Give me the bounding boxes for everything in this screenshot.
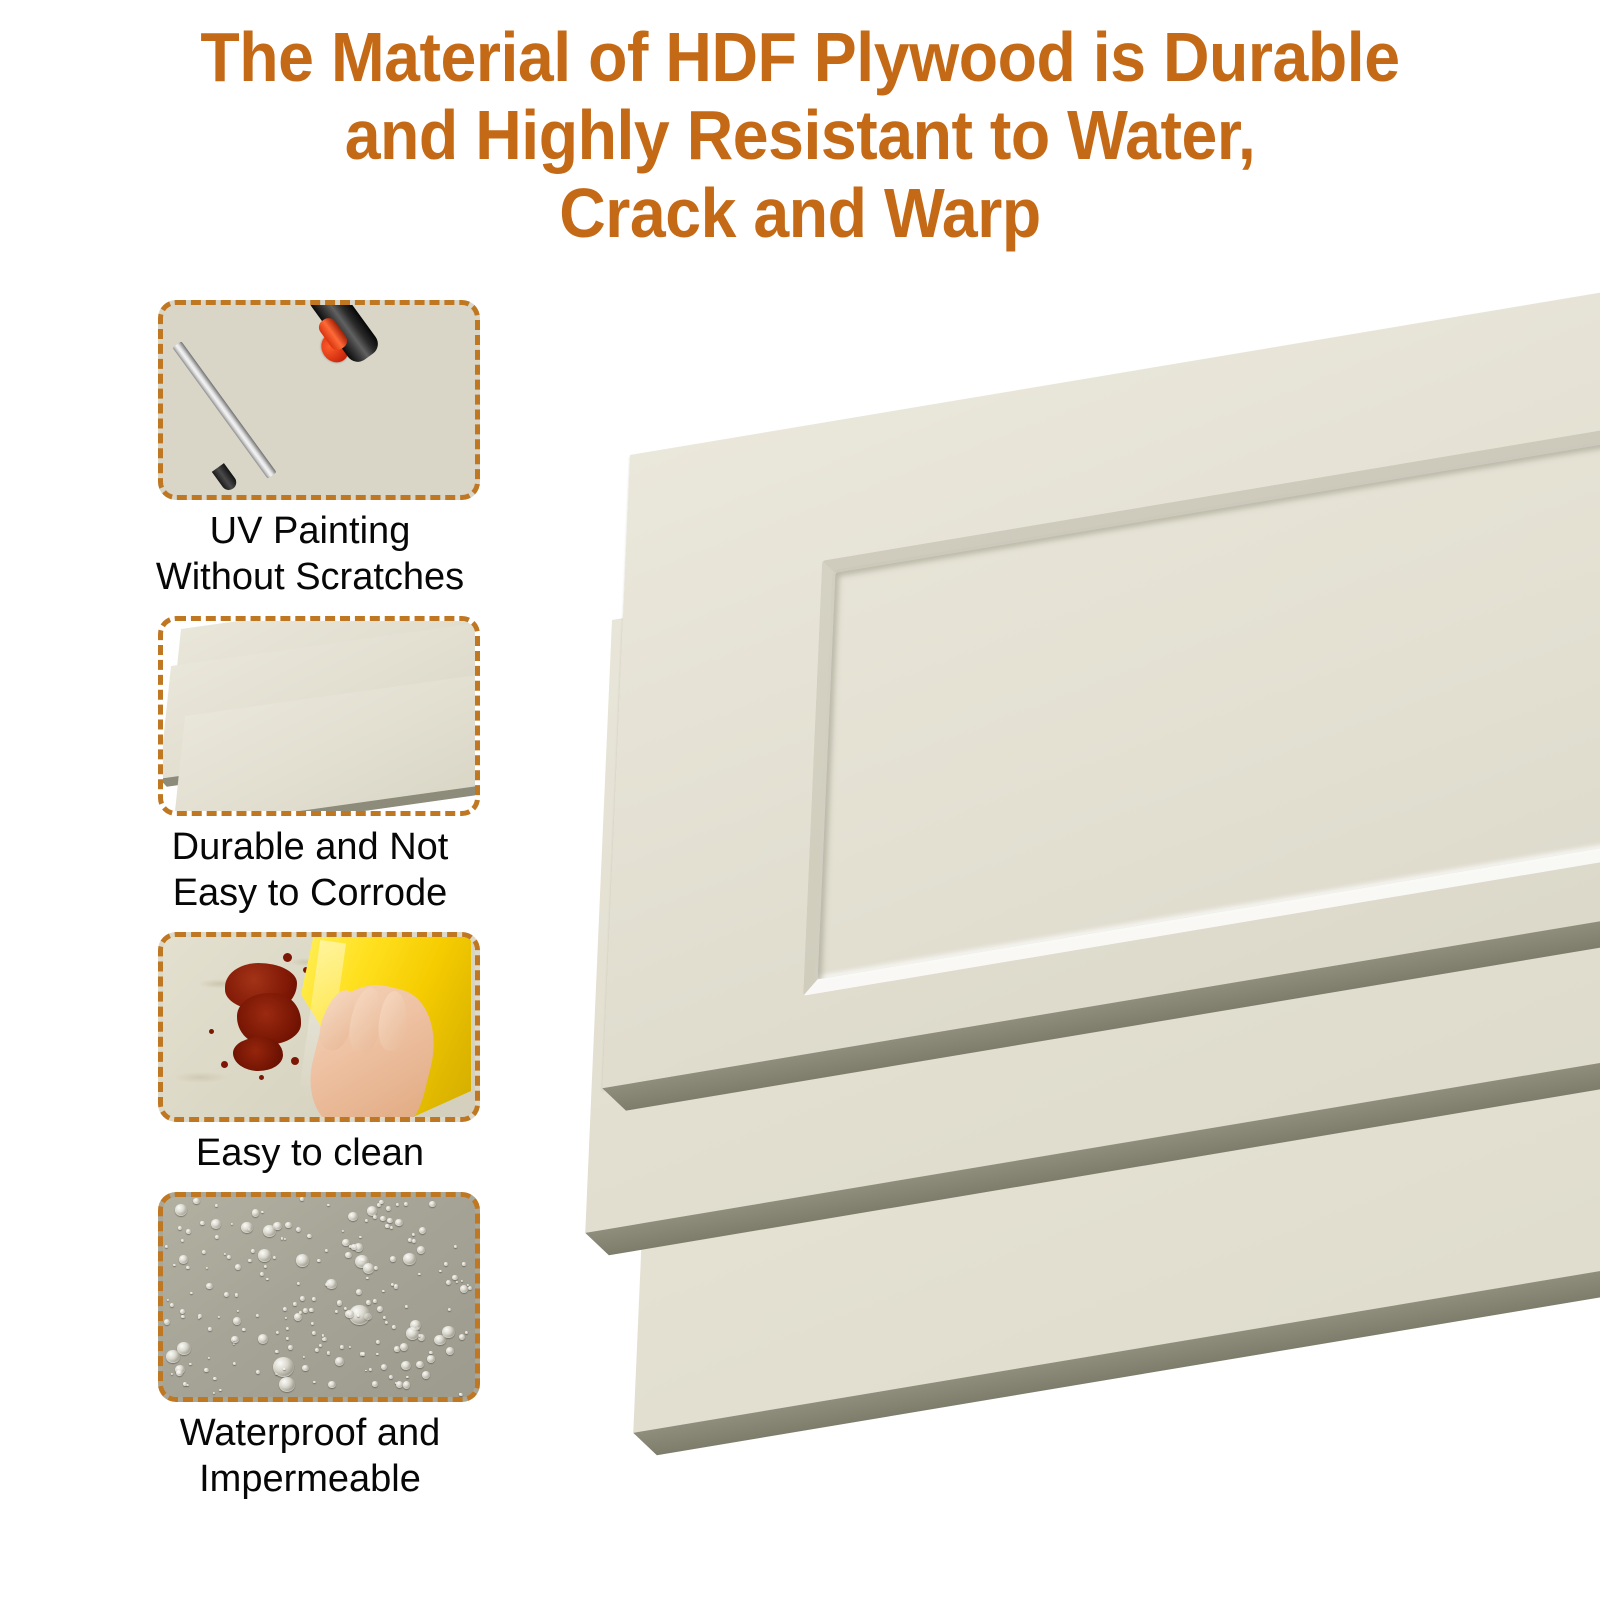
water-droplets-icon — [163, 1197, 475, 1397]
water-droplet — [170, 1303, 174, 1307]
water-droplet — [351, 1244, 357, 1249]
water-droplet — [179, 1255, 188, 1264]
headline-line-3: Crack and Warp — [64, 174, 1536, 252]
water-droplet — [386, 1206, 391, 1211]
water-droplet — [177, 1342, 191, 1355]
water-droplet — [345, 1252, 352, 1258]
water-droplet — [376, 1340, 380, 1344]
water-droplet — [204, 1368, 209, 1372]
water-droplet — [198, 1317, 201, 1319]
feature-card-durable: Durable and Not Easy to Corrode — [0, 616, 620, 916]
water-droplet — [164, 1319, 170, 1325]
screwdriver-icon — [163, 305, 475, 495]
water-droplet — [200, 1221, 204, 1225]
water-droplet — [396, 1203, 399, 1206]
feature-caption-line-2: Without Scratches — [0, 554, 620, 600]
water-droplet — [231, 1223, 233, 1225]
water-droplet — [288, 1345, 293, 1350]
water-droplet — [405, 1305, 408, 1308]
page-title: The Material of HDF Plywood is Durable a… — [64, 18, 1536, 252]
feature-caption-line-1: Durable and Not — [0, 824, 620, 870]
water-droplet — [211, 1219, 221, 1229]
water-droplet — [309, 1308, 314, 1313]
water-droplet — [241, 1222, 252, 1233]
water-droplet — [412, 1239, 416, 1243]
water-droplet — [218, 1316, 220, 1318]
hand-wiping-stain-icon — [163, 937, 475, 1117]
water-droplet — [322, 1337, 326, 1341]
water-droplet — [400, 1343, 408, 1351]
feature-caption: UV Painting Without Scratches — [0, 508, 620, 600]
water-droplet — [418, 1273, 421, 1276]
water-droplet — [385, 1224, 390, 1228]
water-droplet — [300, 1197, 304, 1201]
water-droplet — [293, 1302, 297, 1306]
water-droplet — [166, 1350, 179, 1363]
water-droplet — [237, 1310, 239, 1312]
product-image — [600, 400, 1600, 1520]
water-droplet — [390, 1256, 396, 1262]
headline-line-2: and Highly Resistant to Water, — [64, 96, 1536, 174]
water-droplet — [349, 1346, 351, 1348]
water-droplet — [193, 1198, 200, 1205]
water-droplet — [186, 1229, 191, 1234]
water-droplet — [337, 1300, 343, 1305]
water-droplet — [286, 1337, 289, 1340]
water-droplet — [303, 1356, 305, 1358]
water-droplet — [235, 1293, 239, 1296]
water-droplet — [377, 1203, 381, 1207]
water-droplet — [219, 1389, 222, 1392]
water-droplet — [275, 1350, 279, 1353]
feature-caption-line-1: UV Painting — [0, 508, 620, 554]
water-droplet — [256, 1314, 259, 1317]
water-droplet — [366, 1300, 371, 1304]
water-droplet — [319, 1344, 322, 1347]
water-droplet — [373, 1299, 377, 1303]
water-droplet — [380, 1216, 386, 1221]
feature-card-waterproof: Waterproof and Impermeable — [0, 1192, 620, 1502]
water-droplet — [208, 1327, 212, 1330]
water-droplet — [327, 1351, 331, 1355]
water-droplet — [258, 1249, 271, 1262]
feature-card-easy-clean: Easy to clean — [0, 932, 620, 1176]
water-droplet — [276, 1331, 279, 1334]
water-droplet — [403, 1253, 416, 1265]
water-droplet — [173, 1264, 176, 1266]
water-droplet — [459, 1334, 465, 1340]
water-droplet — [467, 1284, 469, 1286]
water-droplet — [206, 1283, 213, 1289]
feature-image-frame — [158, 1192, 480, 1402]
feature-caption: Easy to clean — [0, 1130, 620, 1176]
feature-caption-line-1: Easy to clean — [0, 1130, 620, 1176]
water-droplet — [394, 1346, 400, 1351]
headline-line-1: The Material of HDF Plywood is Durable — [64, 18, 1536, 96]
water-droplet — [171, 1373, 173, 1375]
water-droplet — [260, 1272, 264, 1276]
water-droplet — [183, 1382, 187, 1386]
water-droplet — [396, 1381, 403, 1388]
water-droplet — [369, 1368, 372, 1371]
water-droplet — [258, 1334, 269, 1344]
water-droplet — [180, 1309, 185, 1314]
water-droplet — [252, 1209, 260, 1216]
water-droplet — [227, 1255, 231, 1259]
feature-caption: Durable and Not Easy to Corrode — [0, 824, 620, 916]
water-droplet — [186, 1266, 190, 1270]
water-droplet — [406, 1376, 409, 1379]
water-droplet — [345, 1310, 354, 1318]
water-droplet — [462, 1262, 466, 1266]
feature-caption-line-1: Waterproof and — [0, 1410, 620, 1456]
water-droplet — [307, 1234, 312, 1239]
water-droplet — [374, 1266, 378, 1270]
water-droplet — [376, 1353, 379, 1356]
feature-caption: Waterproof and Impermeable — [0, 1410, 620, 1502]
water-droplet — [344, 1307, 347, 1310]
water-droplet — [248, 1259, 252, 1263]
water-droplet — [340, 1345, 344, 1349]
water-droplet — [363, 1263, 374, 1274]
feature-image-frame — [158, 932, 480, 1122]
water-droplet — [372, 1381, 378, 1387]
water-droplet — [296, 1227, 302, 1232]
water-droplet — [434, 1335, 446, 1346]
water-droplet — [317, 1259, 321, 1263]
feature-caption-line-2: Easy to Corrode — [0, 870, 620, 916]
panel-stack-icon — [163, 621, 475, 811]
water-droplet — [233, 1317, 241, 1325]
water-droplet — [422, 1371, 430, 1379]
feature-card-uv-painting: UV Painting Without Scratches — [0, 300, 620, 600]
water-droplet — [465, 1331, 468, 1334]
water-droplet — [261, 1211, 264, 1213]
water-droplet — [328, 1381, 336, 1388]
feature-caption-line-2: Impermeable — [0, 1456, 620, 1502]
feature-list: UV Painting Without Scratches — [0, 300, 620, 1502]
routed-inset-panel — [818, 433, 1600, 979]
water-droplet — [461, 1280, 463, 1282]
water-droplet — [206, 1267, 208, 1269]
water-droplet — [362, 1352, 366, 1355]
water-droplet — [326, 1279, 336, 1289]
water-droplet — [294, 1313, 302, 1321]
water-droplet — [263, 1225, 276, 1237]
water-droplet — [303, 1308, 308, 1313]
water-droplet — [403, 1381, 411, 1388]
water-droplet — [427, 1355, 435, 1363]
water-droplet — [167, 1299, 169, 1301]
water-droplet — [233, 1362, 236, 1365]
feature-image-frame — [158, 616, 480, 816]
water-droplet — [416, 1361, 424, 1368]
water-droplet — [283, 1307, 287, 1311]
hdf-panel-top — [602, 265, 1600, 1088]
feature-image-frame — [158, 300, 480, 500]
water-droplet — [181, 1239, 184, 1242]
water-droplet — [215, 1235, 220, 1239]
